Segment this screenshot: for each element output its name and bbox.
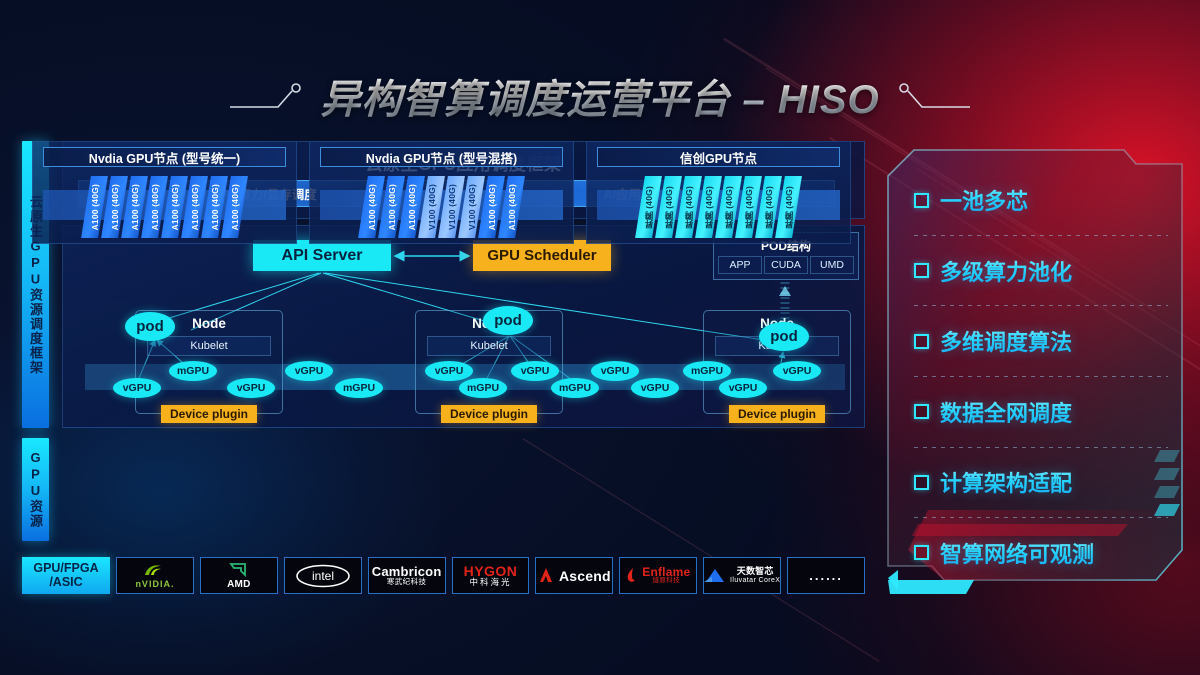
- gpu-card-label: A100 (40G): [210, 184, 220, 230]
- pod-ellipse-3[interactable]: pod: [759, 322, 809, 351]
- iluvatar-icon: [704, 568, 726, 584]
- sidebar-label-gpu-resource: GPU资源: [22, 438, 49, 541]
- feature-label: 计算架构适配: [940, 466, 1072, 498]
- ascend-icon: [538, 567, 555, 584]
- gpu-group-1: Nvdia GPU节点 (型号统一) A100 (40G) A100 (40G)…: [32, 141, 297, 244]
- vgpu-ellipse[interactable]: vGPU: [425, 361, 473, 381]
- pod-cell-cuda: CUDA: [764, 256, 808, 274]
- vgpu-ellipse[interactable]: vGPU: [631, 378, 679, 398]
- vgpu-ellipse[interactable]: vGPU: [113, 378, 161, 398]
- gpu-card-label: A100 (40G): [487, 184, 497, 230]
- vendor-cell-iluvatar[interactable]: 天数智芯 Iluvatar CoreX: [703, 557, 781, 594]
- vendor-cell-cambricon[interactable]: Cambricon 寒武纪科技: [368, 557, 446, 594]
- feature-item-4[interactable]: 计算架构适配: [914, 462, 1168, 502]
- mgpu-ellipse[interactable]: mGPU: [683, 361, 731, 381]
- vendor-cell-hygon[interactable]: HYGON 中科海光: [452, 557, 530, 594]
- feature-separator: [914, 235, 1168, 236]
- vendor-label: HYGON: [464, 564, 518, 579]
- gpu-card-label: A100 (40G): [367, 184, 377, 230]
- feature-label: 智算网络可观测: [940, 537, 1094, 569]
- checkbox-icon: [914, 334, 929, 349]
- vgpu-ellipse[interactable]: vGPU: [773, 361, 821, 381]
- checkbox-icon: [914, 263, 929, 278]
- kubelet-bar: Kubelet: [427, 336, 551, 356]
- vendor-label: AMD: [227, 579, 250, 590]
- amd-icon: [229, 562, 249, 578]
- gpu-resource-row: Nvdia GPU节点 (型号统一) A100 (40G) A100 (40G)…: [22, 141, 865, 244]
- page-title: 异构智算调度运营平台 – HISO: [320, 67, 879, 125]
- vendor-sublabel: 中科海光: [469, 578, 511, 587]
- pod-ellipse-2[interactable]: pod: [483, 306, 533, 335]
- gpu-card-label: A100 (40G): [190, 184, 200, 230]
- gpu-card-label: V100 (40G): [467, 184, 477, 230]
- vgpu-ellipse[interactable]: vGPU: [591, 361, 639, 381]
- device-plugin-label[interactable]: Device plugin: [161, 405, 257, 423]
- feature-separator: [914, 517, 1168, 518]
- gpu-card-label: 昇腾 (40G): [723, 186, 735, 229]
- gpu-card-label: A100 (40G): [387, 184, 397, 230]
- checkbox-icon: [914, 545, 929, 560]
- title-decoration-left: [230, 83, 306, 109]
- pod-cell-umd: UMD: [810, 256, 854, 274]
- feature-panel: 一池多芯 多级算力池化 多维调度算法 数据全网调度 计算架构适配 智算网络可观测: [888, 150, 1182, 597]
- k8s-control-plane-panel: API Server GPU Scheduler POD结构 APP CUDA …: [62, 225, 865, 428]
- gpu-group-title: Nvdia GPU节点 (型号统一): [43, 147, 286, 167]
- feature-separator: [914, 376, 1168, 377]
- mgpu-ellipse[interactable]: mGPU: [459, 378, 507, 398]
- pod-structure-cells: APP CUDA UMD: [714, 254, 858, 274]
- gpu-card-label: 昇腾 (40G): [683, 186, 695, 229]
- mgpu-ellipse[interactable]: mGPU: [335, 378, 383, 398]
- vendor-cell-nvidia[interactable]: nVIDIA.: [116, 557, 194, 594]
- gpu-scheduler-box[interactable]: GPU Scheduler: [473, 240, 611, 271]
- kubelet-bar: Kubelet: [147, 336, 271, 356]
- gpu-card-label: V100 (40G): [427, 184, 437, 230]
- vendor-label: nVIDIA.: [135, 579, 174, 589]
- feature-item-2[interactable]: 多维调度算法: [914, 321, 1168, 361]
- vendor-cell-ascend[interactable]: Ascend: [535, 557, 613, 594]
- feature-separator: [914, 305, 1168, 306]
- gpu-card-label: A100 (40G): [150, 184, 160, 230]
- gpu-card-label: 昇腾 (40G): [643, 186, 655, 229]
- gpu-card-label: 昇腾 (40G): [703, 186, 715, 229]
- feature-label: 数据全网调度: [940, 396, 1072, 428]
- feature-item-3[interactable]: 数据全网调度: [914, 392, 1168, 432]
- vendor-sublabel: 寒武纪科技: [387, 578, 427, 586]
- mgpu-ellipse[interactable]: mGPU: [551, 378, 599, 398]
- vendor-logo-row: GPU/FPGA /ASIC nVIDIA. AMD intel Cambric…: [22, 557, 865, 594]
- gpu-group-3: 信创GPU节点 昇腾 (40G) 昇腾 (40G) 昇腾 (40G) 昇腾 (4…: [586, 141, 851, 244]
- gpu-card-label: 昇腾 (40G): [763, 186, 775, 229]
- gpu-card-label: 昇腾 (40G): [743, 186, 755, 229]
- vendor-sublabel: 燧原科技: [652, 578, 680, 585]
- vgpu-ellipse[interactable]: vGPU: [719, 378, 767, 398]
- vendor-label: Ascend: [559, 568, 611, 584]
- checkbox-icon: [914, 193, 929, 208]
- device-plugin-label[interactable]: Device plugin: [441, 405, 537, 423]
- vendor-label: ......: [809, 568, 843, 583]
- enflame-icon: [626, 567, 638, 584]
- feature-list: 一池多芯 多级算力池化 多维调度算法 数据全网调度 计算架构适配 智算网络可观测: [914, 180, 1168, 573]
- gpu-card-label: 昇腾 (40G): [783, 186, 795, 229]
- checkbox-icon: [914, 475, 929, 490]
- svg-text:intel: intel: [312, 569, 334, 583]
- vendor-badge-line1: GPU/FPGA: [33, 562, 98, 575]
- feature-item-5[interactable]: 智算网络可观测: [914, 533, 1168, 573]
- pod-cell-app: APP: [718, 256, 762, 274]
- gpu-card-label: A100 (40G): [230, 184, 240, 230]
- vgpu-ellipse[interactable]: vGPU: [227, 378, 275, 398]
- vgpu-ellipse[interactable]: vGPU: [285, 361, 333, 381]
- feature-item-1[interactable]: 多级算力池化: [914, 251, 1168, 291]
- vendor-badge: GPU/FPGA /ASIC: [22, 557, 110, 594]
- vendor-sublabel: Iluvatar CoreX: [730, 577, 780, 584]
- gpu-card-label: A100 (40G): [507, 184, 517, 230]
- api-server-box[interactable]: API Server: [253, 240, 391, 271]
- gpu-card-label: A100 (40G): [407, 184, 417, 230]
- feature-label: 多级算力池化: [940, 255, 1072, 287]
- gpu-card-label: 昇腾 (40G): [663, 186, 675, 229]
- gpu-card-label: A100 (40G): [130, 184, 140, 230]
- feature-label: 一池多芯: [940, 184, 1028, 216]
- feature-label: 多维调度算法: [940, 325, 1072, 357]
- gpu-card-label: A100 (40G): [110, 184, 120, 230]
- vendor-badge-line2: /ASIC: [49, 576, 82, 589]
- gpu-card-row-3: 昇腾 (40G) 昇腾 (40G) 昇腾 (40G) 昇腾 (40G) 昇腾 (…: [587, 176, 850, 238]
- vendor-cell-enflame[interactable]: Enflame 燧原科技: [619, 557, 697, 594]
- vendor-cell-more[interactable]: ......: [787, 557, 865, 594]
- gpu-group-title: Nvdia GPU节点 (型号混搭): [320, 147, 563, 167]
- mgpu-ellipse[interactable]: mGPU: [169, 361, 217, 381]
- vendor-label: 天数智芯: [737, 567, 774, 576]
- gpu-card-label: V100 (40G): [447, 184, 457, 230]
- architecture-diagram: 云原生GPU资源调度框架 GPU资源 云原生GPU应用调度框架 GPU算力/显存…: [22, 141, 865, 603]
- device-plugin-label[interactable]: Device plugin: [729, 405, 825, 423]
- vendor-cell-amd[interactable]: AMD: [200, 557, 278, 594]
- vgpu-ellipse[interactable]: vGPU: [511, 361, 559, 381]
- intel-icon: intel: [295, 564, 351, 588]
- nvidia-icon: [143, 563, 167, 578]
- gpu-card-row-2: A100 (40G) A100 (40G) A100 (40G) V100 (4…: [310, 176, 573, 238]
- vendor-cell-intel[interactable]: intel: [284, 557, 362, 594]
- gpu-card-row-1: A100 (40G) A100 (40G) A100 (40G) A100 (4…: [33, 176, 296, 238]
- slide-title-bar: 异构智算调度运营平台 – HISO: [0, 62, 1200, 130]
- feature-separator: [914, 447, 1168, 448]
- title-decoration-right: [894, 83, 970, 109]
- gpu-group-title: 信创GPU节点: [597, 147, 840, 167]
- pod-ellipse-1[interactable]: pod: [125, 312, 175, 341]
- gpu-group-2: Nvdia GPU节点 (型号混搭) A100 (40G) A100 (40G)…: [309, 141, 574, 244]
- feature-item-0[interactable]: 一池多芯: [914, 180, 1168, 220]
- checkbox-icon: [914, 404, 929, 419]
- gpu-card-label: A100 (40G): [90, 184, 100, 230]
- gpu-card-label: A100 (40G): [170, 184, 180, 230]
